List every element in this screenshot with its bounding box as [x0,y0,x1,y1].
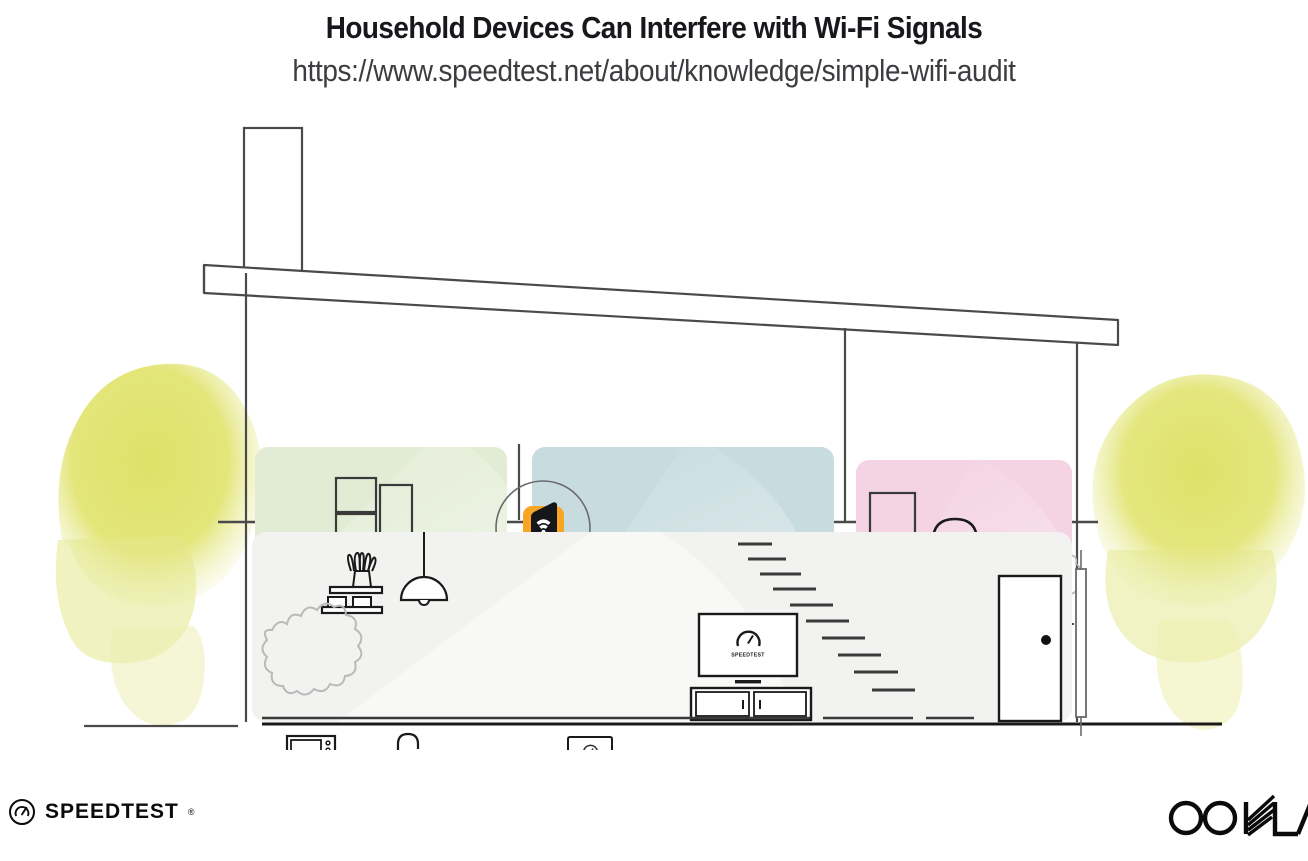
roof [204,265,1118,345]
page-title: Household Devices Can Interfere with Wi-… [65,10,1242,46]
front-door-panel[interactable] [999,576,1061,721]
header: Household Devices Can Interfere with Wi-… [0,0,1308,89]
tv-speedtest: SPEEDTEST [699,614,797,683]
speedometer-gauge-icon [8,798,36,826]
exterior-post [1076,550,1086,736]
illustration-page: Household Devices Can Interfere with Wi-… [0,0,1308,861]
tv-screen-label: SPEEDTEST [731,653,765,659]
page-url: https://www.speedtest.net/about/knowledg… [65,53,1242,89]
room-downstairs: SPEEDTEST [252,510,1072,750]
ookla-logo[interactable] [1162,794,1308,843]
kitchen-sink-faucet [398,734,418,750]
tree-right [1092,374,1304,729]
chimney [244,128,302,273]
speedtest-trademark: ® [188,807,195,817]
speedtest-logo[interactable]: SPEEDTEST ® [8,798,195,826]
microwave [287,736,335,750]
media-console [691,688,811,720]
door-knob-icon[interactable] [1041,635,1051,645]
house-illustration: SPEEDTEST [0,110,1308,750]
tree-left [56,364,261,726]
footer: SPEEDTEST ® [0,788,1308,848]
laptop-speedtest: SPEEDTEST [560,737,620,750]
speedtest-wordmark: SPEEDTEST [45,800,179,824]
